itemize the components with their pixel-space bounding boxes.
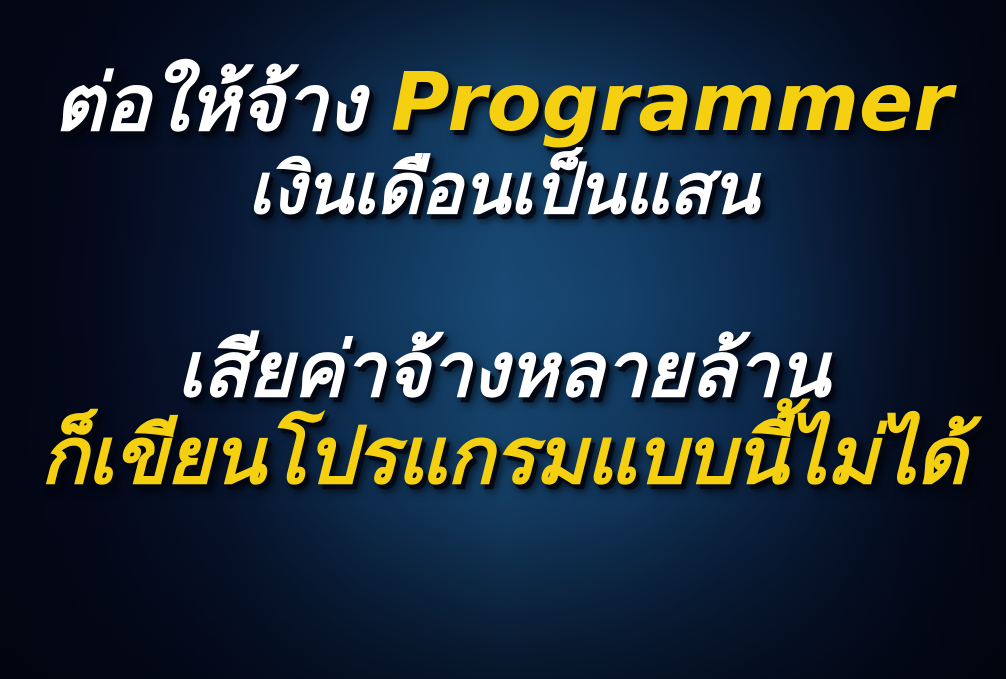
headline-line-4: ก็เขียนโปรแกรมแบบนี้ไม่ได้ — [0, 412, 1006, 500]
paragraph-upper: ต่อให้จ้าง Programmer เงินเดือนเป็นแสน — [0, 58, 1006, 231]
headline-line-3: เสียค่าจ้างหลายล้าน — [0, 327, 1006, 412]
headline-line-2: เงินเดือนเป็นแสน — [0, 148, 1006, 231]
headline-line-1-thai: ต่อให้จ้าง — [53, 59, 364, 149]
text-stack: ต่อให้จ้าง Programmer เงินเดือนเป็นแสน เ… — [0, 0, 1006, 679]
headline-line-1-latin: Programmer — [391, 56, 953, 149]
paragraph-lower: เสียค่าจ้างหลายล้าน ก็เขียนโปรแกรมแบบนี้… — [0, 327, 1006, 501]
poster-canvas: ต่อให้จ้าง Programmer เงินเดือนเป็นแสน เ… — [0, 0, 1006, 679]
headline-line-1: ต่อให้จ้าง Programmer — [0, 58, 1006, 148]
